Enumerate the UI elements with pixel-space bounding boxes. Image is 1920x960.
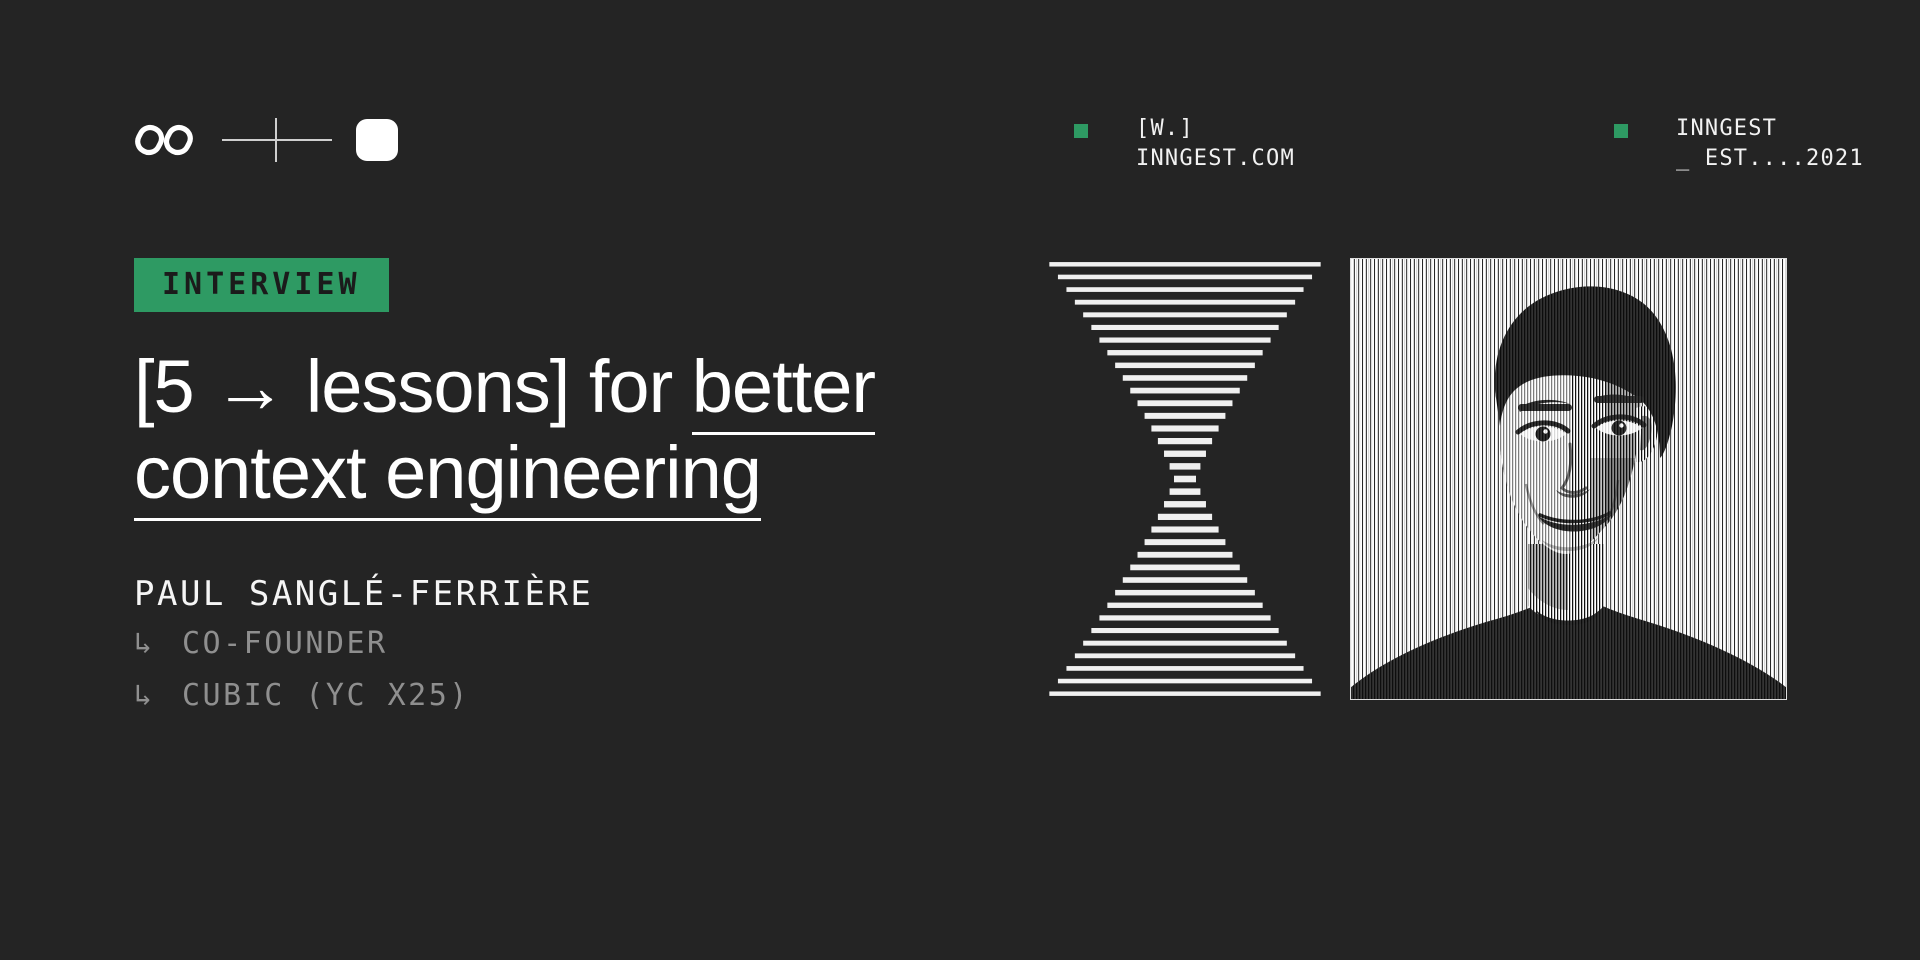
headline-plain-text: [5 → lessons] for bbox=[134, 345, 692, 428]
speaker-role-label: CO-FOUNDER bbox=[182, 618, 388, 670]
headline-underlined-context-engineering: context engineering bbox=[134, 431, 761, 521]
brandmark bbox=[134, 110, 398, 170]
arrow-corner-icon: ↳ bbox=[134, 670, 182, 722]
meta-website-line2[interactable]: INNGEST.COM bbox=[1136, 146, 1295, 171]
divider-horizontal-line bbox=[222, 139, 332, 141]
speaker-company-label: CUBIC (YC X25) bbox=[182, 670, 470, 722]
headline-line-1: [5 → lessons] for better bbox=[134, 344, 984, 430]
hourglass-stripes-graphic bbox=[1045, 258, 1325, 700]
meta-website-text: [W.] INNGEST.COM bbox=[1136, 114, 1295, 174]
content-column: INTERVIEW [5 → lessons] for better conte… bbox=[134, 258, 984, 722]
byline: PAUL SANGLÉ-FERRIÈRE ↳ CO-FOUNDER ↳ CUBI… bbox=[134, 570, 984, 722]
rounded-square-icon bbox=[356, 119, 398, 161]
headline-underlined-better: better bbox=[692, 345, 875, 435]
plus-crosshair-divider-icon bbox=[222, 118, 332, 162]
page-title: [5 → lessons] for better context enginee… bbox=[134, 344, 984, 516]
green-square-bullet-icon bbox=[1614, 124, 1628, 138]
arrow-corner-icon: ↳ bbox=[134, 618, 182, 670]
divider-vertical-tick bbox=[275, 118, 277, 162]
header: [W.] INNGEST.COM INNGEST _ EST....2021 bbox=[134, 110, 1786, 180]
meta-website: [W.] INNGEST.COM bbox=[1074, 114, 1295, 174]
halftone-portrait-image bbox=[1350, 258, 1787, 700]
meta-established-line1: INNGEST bbox=[1676, 116, 1777, 141]
meta-website-line1: [W.] bbox=[1136, 116, 1194, 141]
status-badge: INTERVIEW bbox=[134, 258, 389, 312]
meta-established-line2: _ EST....2021 bbox=[1676, 146, 1864, 171]
headline-line-2: context engineering bbox=[134, 430, 984, 516]
speaker-company-row: ↳ CUBIC (YC X25) bbox=[134, 670, 984, 722]
social-card: [W.] INNGEST.COM INNGEST _ EST....2021 I… bbox=[0, 0, 1920, 960]
meta-established-text: INNGEST _ EST....2021 bbox=[1676, 114, 1864, 174]
meta-established: INNGEST _ EST....2021 bbox=[1614, 114, 1864, 174]
green-square-bullet-icon bbox=[1074, 124, 1088, 138]
speaker-role-row: ↳ CO-FOUNDER bbox=[134, 618, 984, 670]
speaker-name: PAUL SANGLÉ-FERRIÈRE bbox=[134, 570, 984, 618]
inngest-infinity-logo-icon[interactable] bbox=[134, 119, 194, 161]
